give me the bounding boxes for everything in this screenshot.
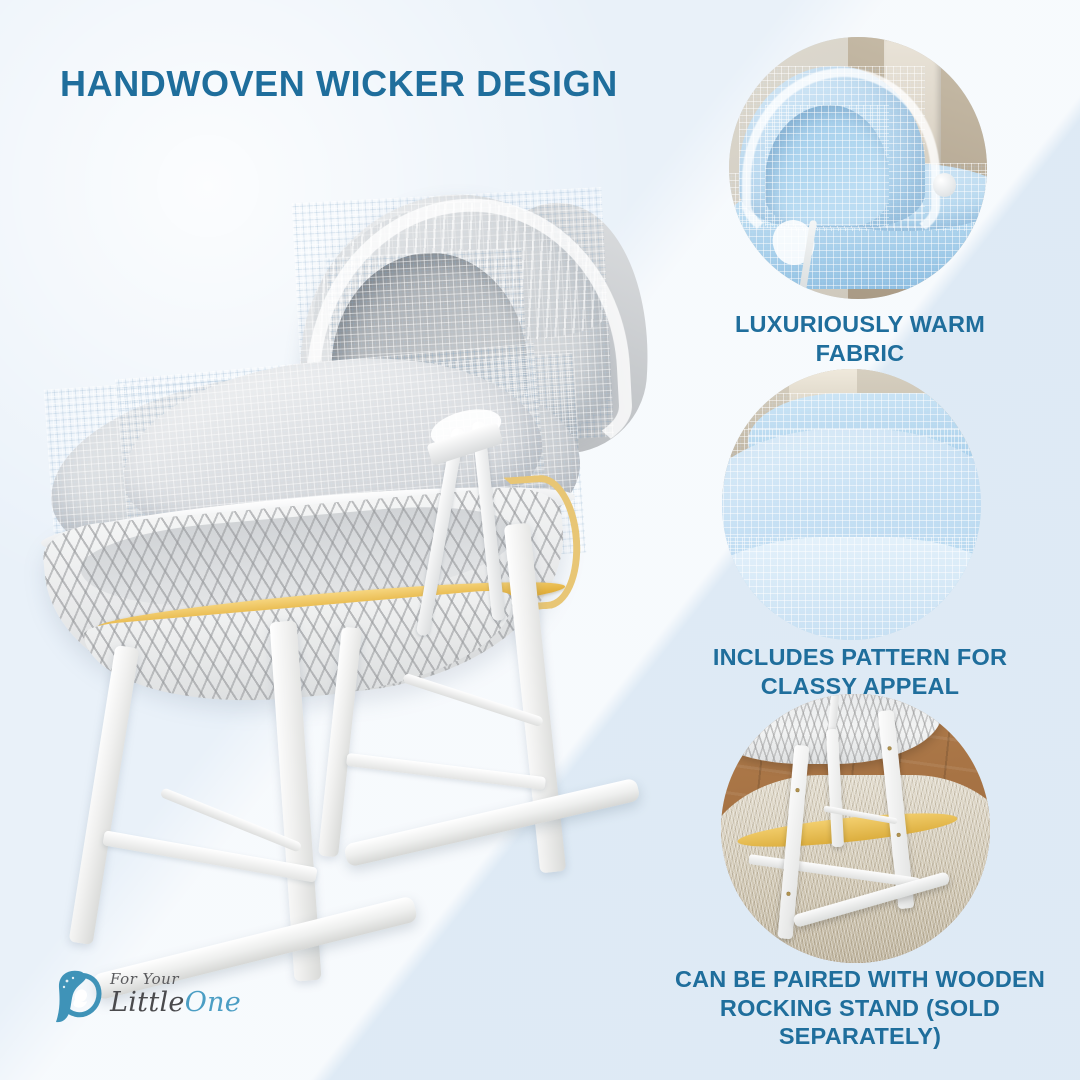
feature-caption-3: CAN BE PAIRED WITH WOODEN ROCKING STAND … bbox=[650, 965, 1070, 1051]
logo-line-1: For Your bbox=[110, 970, 241, 988]
feature-image-2 bbox=[722, 369, 981, 640]
feature-image-1 bbox=[729, 37, 987, 299]
mother-and-baby-icon bbox=[52, 966, 108, 1028]
feature-caption-2: INCLUDES PATTERN FOR CLASSY APPEAL bbox=[690, 643, 1030, 700]
feature-caption-1: LUXURIOUSLY WARM FABRIC bbox=[700, 310, 1020, 367]
logo-little: Little bbox=[110, 987, 185, 1018]
stand-rocker-back bbox=[343, 778, 640, 868]
hero-product-image bbox=[30, 175, 650, 1005]
brand-logo[interactable]: For Your LittleOne bbox=[52, 966, 242, 1040]
product-feature-graphic: HANDWOVEN WICKER DESIGN bbox=[0, 0, 1080, 1080]
feature-image-3 bbox=[721, 694, 990, 963]
logo-one: One bbox=[185, 987, 241, 1018]
page-title: HANDWOVEN WICKER DESIGN bbox=[60, 64, 680, 104]
stand-rail-back bbox=[346, 753, 546, 790]
stand-leg-front-left bbox=[69, 645, 140, 945]
